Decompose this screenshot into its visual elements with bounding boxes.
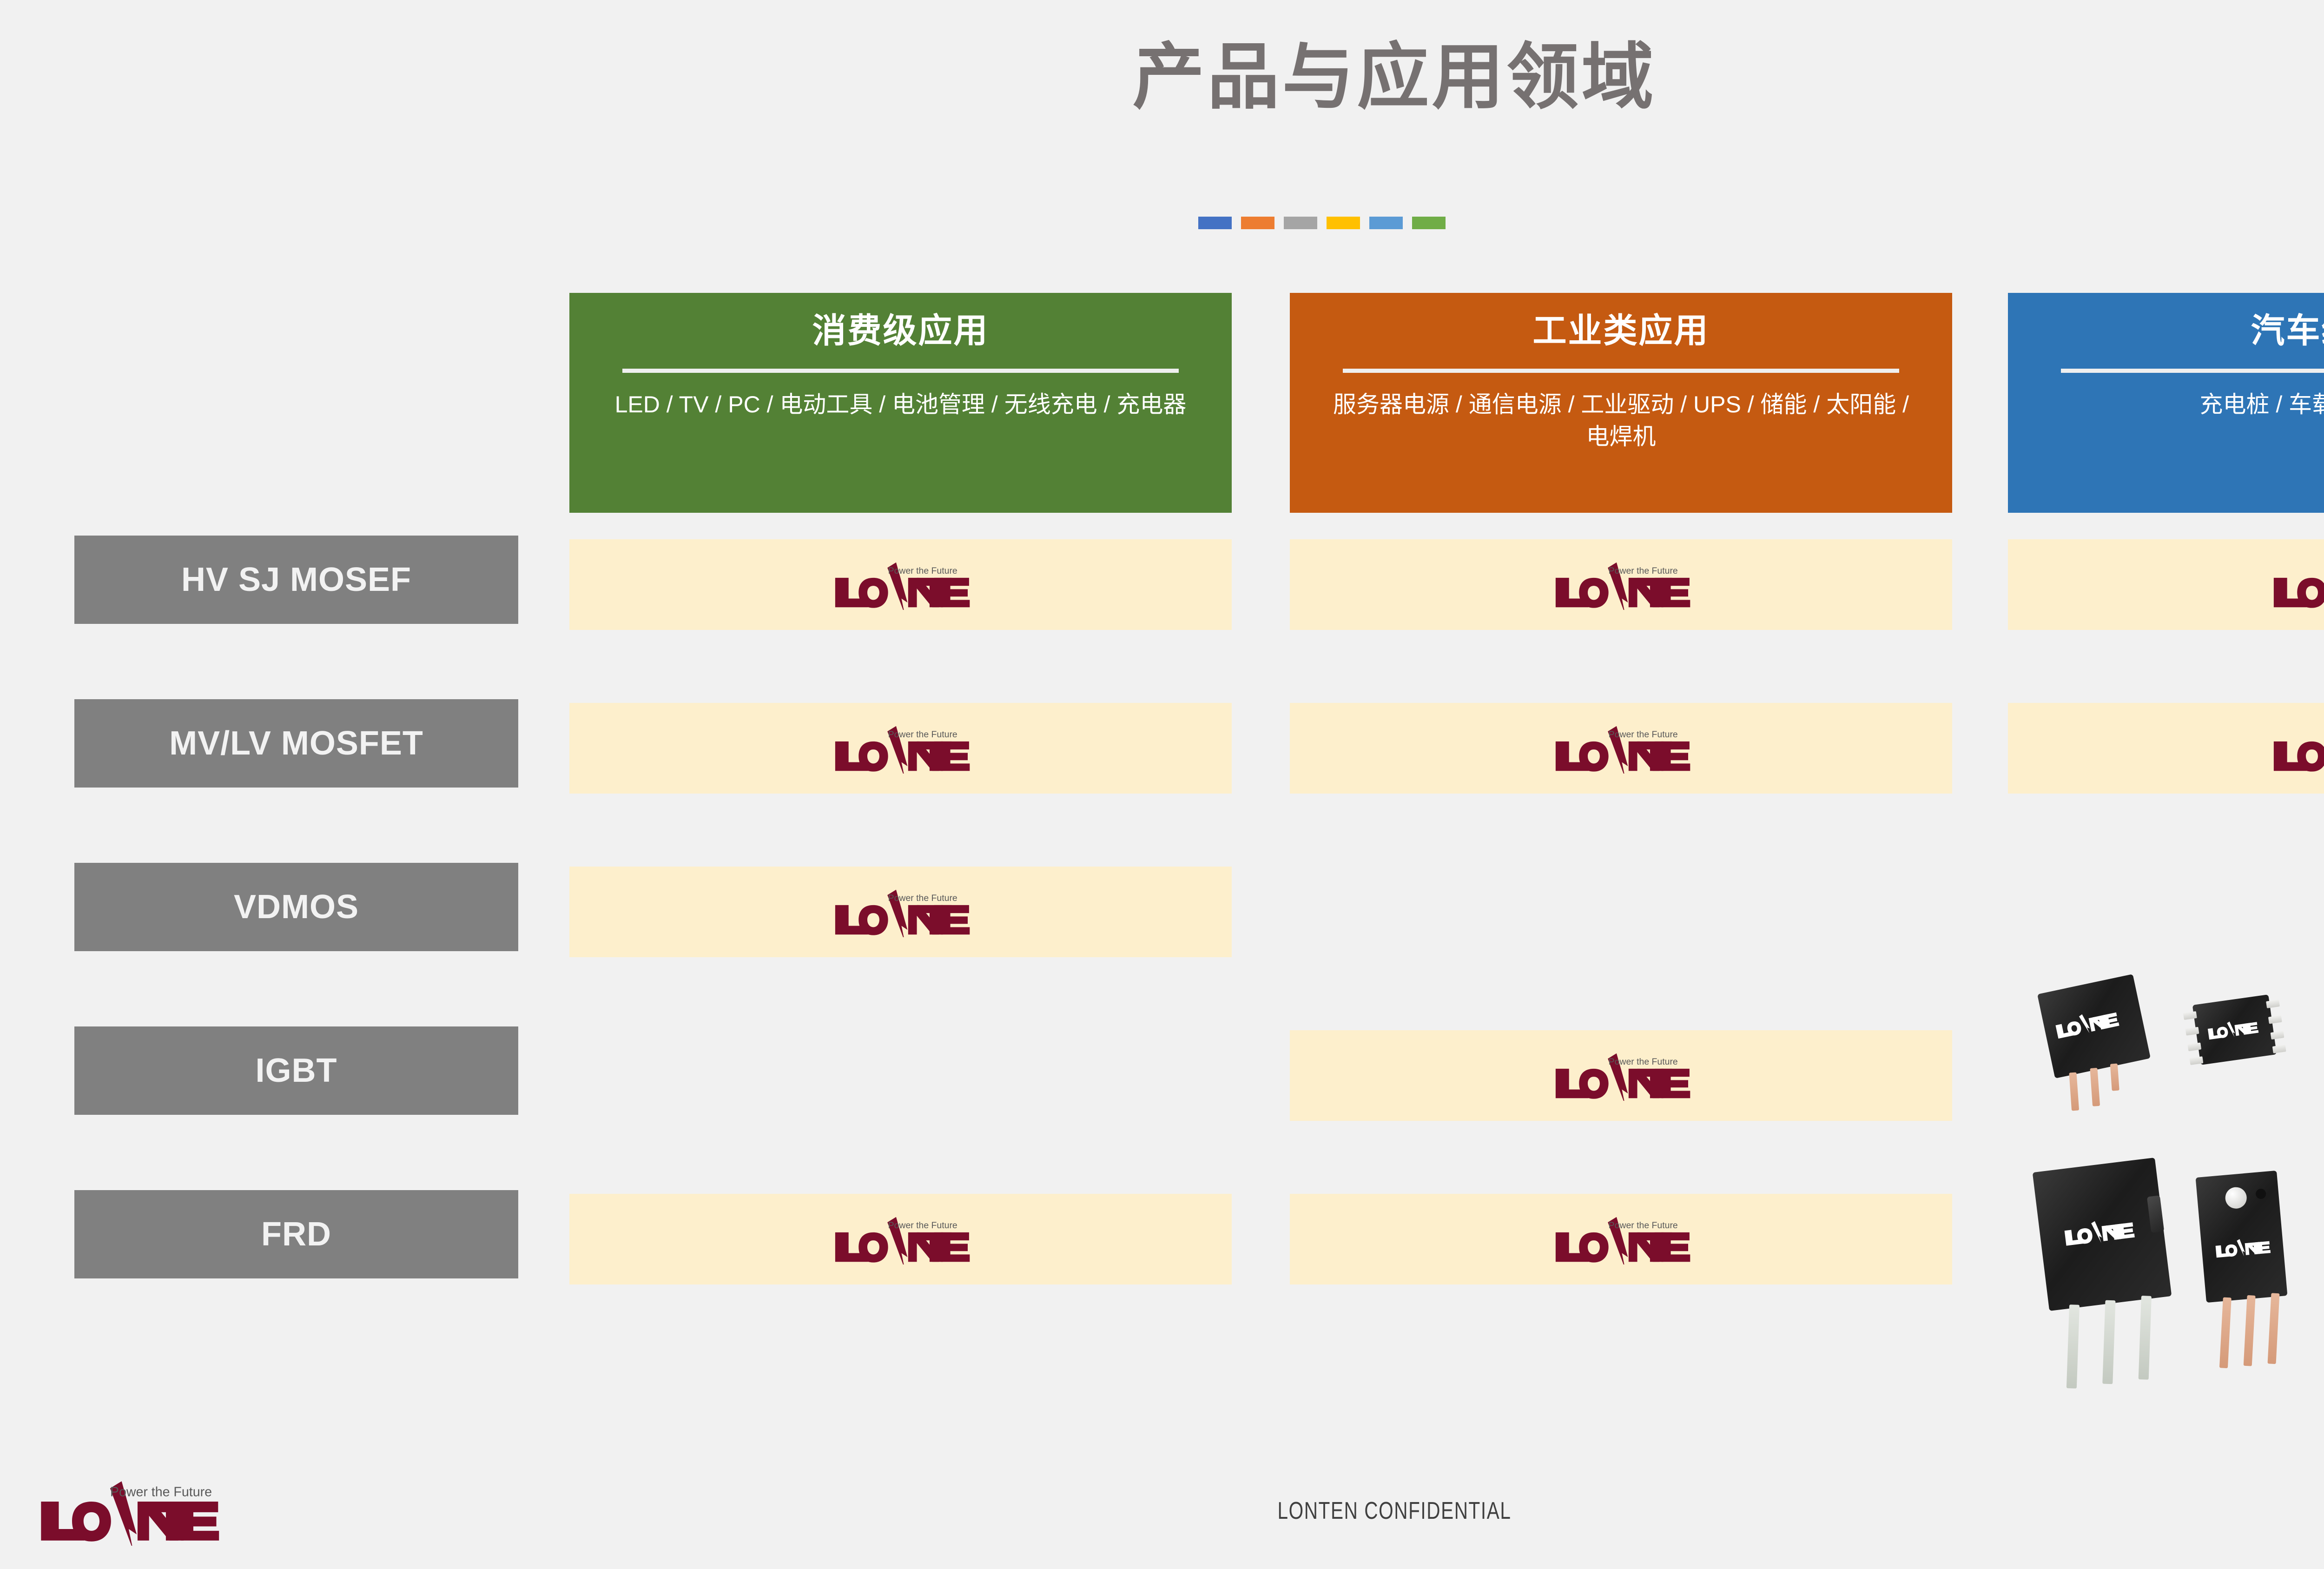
row-label-vdmos: VDMOS	[74, 863, 518, 951]
package-pin	[2110, 1064, 2119, 1091]
lonten-logo: Power the Future	[1549, 1214, 1693, 1264]
row-label-igbt: IGBT	[74, 1026, 518, 1115]
svg-text:Power the Future: Power the Future	[888, 1220, 957, 1231]
svg-text:Power the Future: Power the Future	[1608, 566, 1677, 576]
svg-text:Power the Future: Power the Future	[1608, 729, 1677, 740]
accent-swatch-0	[1198, 217, 1232, 229]
column-title: 工业类应用	[1533, 313, 1710, 349]
footer-lonten-logo: Power the Future	[35, 1476, 221, 1548]
accent-color-bar	[1198, 217, 1446, 229]
package-pin	[2268, 1015, 2282, 1024]
svg-text:Power the Future: Power the Future	[1608, 1057, 1677, 1067]
column-header-industrial: 工业类应用 服务器电源 / 通信电源 / 工业驱动 / UPS / 储能 / 太…	[1290, 293, 1952, 513]
page-title: 产品与应用领域	[0, 41, 2324, 113]
matrix-cell-r3-c1: Power the Future	[1290, 1030, 1952, 1121]
package-pin	[2069, 1072, 2079, 1111]
lonten-logo: Power the Future	[829, 887, 973, 937]
package-pin	[2271, 1031, 2284, 1039]
column-header-consumer: 消费级应用 LED / TV / PC / 电动工具 / 电池管理 / 无线充电…	[569, 293, 1232, 513]
svg-text:Power the Future: Power the Future	[888, 893, 957, 903]
svg-text:Power the Future: Power the Future	[888, 566, 957, 576]
product-package-photos	[2031, 974, 2324, 1388]
column-divider	[2061, 369, 2324, 373]
package-pin	[2244, 1295, 2256, 1366]
footer-logo-tagline: Power the Future	[110, 1485, 212, 1500]
matrix-cell-r4-c1: Power the Future	[1290, 1194, 1952, 1284]
package-pin	[2266, 1000, 2280, 1008]
matrix-cell-r0-c0: Power the Future	[569, 539, 1232, 630]
accent-swatch-1	[1241, 217, 1274, 229]
matrix-cell-r1-c0: Power the Future	[569, 703, 1232, 794]
accent-swatch-3	[1327, 217, 1360, 229]
package-to247	[2033, 1158, 2172, 1311]
column-divider	[622, 369, 1179, 373]
column-header-automotive: 汽车级应用 充电桩 / 车载OBC / DC/DC	[2008, 293, 2324, 513]
column-title: 消费级应用	[812, 313, 989, 349]
matrix-cell-r4-c0: Power the Future	[569, 1194, 1232, 1284]
accent-swatch-2	[1284, 217, 1317, 229]
svg-text:Power the Future: Power the Future	[888, 729, 957, 740]
matrix-cell-r0-c1: Power the Future	[1290, 539, 1952, 630]
column-subtitle: LED / TV / PC / 电动工具 / 电池管理 / 无线充电 / 充电器	[609, 389, 1192, 421]
lonten-logo: Power the Future	[1549, 723, 1693, 774]
column-title: 汽车级应用	[2251, 313, 2324, 349]
lonten-logo: Power the Future	[1549, 1051, 1693, 1101]
row-label-hv-sj-mosef: HV SJ MOSEF	[74, 536, 518, 624]
svg-text:Power the Future: Power the Future	[1608, 1220, 1677, 1231]
lonten-logo: Power the Future	[829, 1214, 973, 1264]
column-subtitle: 服务器电源 / 通信电源 / 工业驱动 / UPS / 储能 / 太阳能 / 电…	[1330, 389, 1913, 453]
accent-swatch-5	[1412, 217, 1446, 229]
lonten-logo: Power the Future	[1549, 560, 1693, 610]
package-pin	[2139, 1296, 2152, 1380]
row-label-mv-lv-mosfet: MV/LV MOSFET	[74, 699, 518, 788]
matrix-cell-r1-c2: Power the Future	[2008, 703, 2324, 794]
lonten-logo: Power the Future	[2267, 560, 2324, 610]
matrix-cell-r1-c1: Power the Future	[1290, 703, 1952, 794]
matrix-cell-r2-c0: Power the Future	[569, 867, 1232, 957]
column-subtitle: 充电桩 / 车载OBC / DC/DC	[2048, 389, 2324, 421]
package-to220f	[2196, 1171, 2288, 1303]
accent-swatch-4	[1369, 217, 1403, 229]
package-pin	[2102, 1300, 2115, 1384]
package-pin	[2272, 1045, 2286, 1053]
package-sop8	[2192, 994, 2277, 1065]
row-label-frd: FRD	[74, 1190, 518, 1278]
confidential-notice: LONTEN CONFIDENTIAL	[307, 1497, 2324, 1525]
lonten-logo: Power the Future	[829, 560, 973, 610]
package-pin	[2268, 1293, 2280, 1364]
lonten-logo: Power the Future	[2267, 723, 2324, 774]
package-pin	[2067, 1304, 2080, 1389]
package-to263	[2037, 974, 2151, 1079]
matrix-cell-r0-c2: Power the Future	[2008, 539, 2324, 630]
package-pin	[2090, 1068, 2100, 1106]
lonten-logo: Power the Future	[829, 723, 973, 774]
column-divider	[1343, 369, 1899, 373]
package-pin	[2219, 1297, 2232, 1368]
